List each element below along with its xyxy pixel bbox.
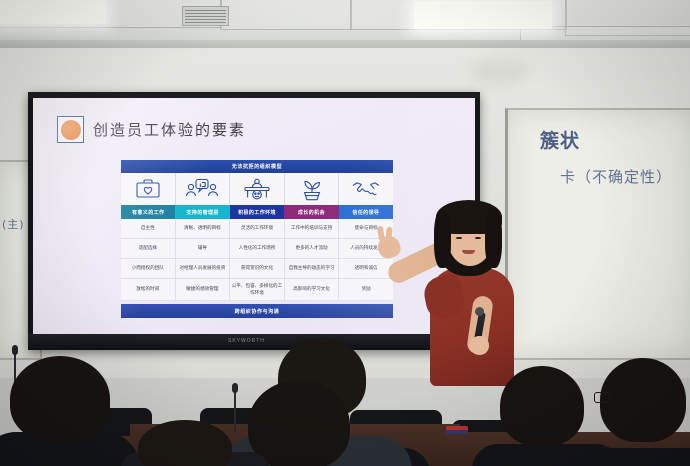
cell-2-4: 透明和诚信 — [339, 259, 393, 278]
presenter-mouth — [462, 250, 475, 254]
employee-experience-model-chart: 无法抗拒的组织模型 — [121, 160, 393, 318]
person-desk-icon — [230, 173, 285, 205]
chart-header-row: 有意义的工作 支持的管理层 积极的工作环境 成长的机会 信任的领导 — [121, 205, 393, 219]
column-header-0: 有意义的工作 — [121, 205, 175, 219]
cell-2-3: 自我主导的动态的学习 — [285, 259, 340, 278]
whiteboard-eraser — [446, 426, 468, 434]
orange-circle-logo-icon — [57, 116, 84, 143]
column-header-3: 成长的机会 — [284, 205, 338, 219]
cell-3-3: 高影响的学习文化 — [285, 279, 340, 300]
cell-2-0: 小而授权的团队 — [121, 259, 176, 278]
icon-row — [121, 173, 393, 205]
plant-growth-icon — [285, 173, 340, 205]
cell-2-2: 获得赏识的文化 — [230, 259, 285, 278]
cell-3-1: 敏捷的绩效管理 — [176, 279, 231, 300]
desk-microphone-icon — [234, 390, 236, 432]
people-feedback-icon — [176, 173, 231, 205]
handshake-icon — [339, 173, 393, 205]
audience-head — [10, 356, 110, 442]
column-header-4: 信任的领导 — [339, 205, 393, 219]
microphone-head — [475, 307, 484, 316]
slide-title: 创造员工体验的要素 — [93, 119, 246, 140]
cell-3-4: 奖励 — [339, 279, 393, 300]
cell-1-3: 更多的人才流动 — [285, 239, 340, 258]
cell-3-2: 公平、包容、多样化的工作环境 — [230, 279, 285, 300]
whiteboard-left-note: (主) — [2, 216, 25, 232]
cell-3-0: 放松的时间 — [121, 279, 176, 300]
cell-1-1: 辅导 — [176, 239, 231, 258]
audience-head — [248, 380, 350, 466]
model-banner-bottom: 跨组织协作与沟通 — [121, 304, 393, 318]
cell-0-3: 工作中的培训与支持 — [285, 219, 340, 238]
whiteboard-note-2: 卡（不确定性） — [560, 166, 672, 187]
slide-header: 创造员工体验的要素 — [57, 116, 246, 143]
table-row: 小而授权的团队 对经理人员发展的投资 获得赏识的文化 自我主导的动态的学习 透明… — [121, 259, 393, 279]
audience-head — [500, 366, 584, 446]
table-row: 适配选择 辅导 人性化的工作场所 更多的人才流动 人员的持续发展 — [121, 239, 393, 259]
presenter-hair-side — [434, 210, 451, 268]
ceiling-light-left — [0, 0, 106, 24]
column-header-2: 积极的工作环境 — [230, 205, 284, 219]
audience-glasses-icon — [594, 392, 612, 403]
model-banner-top: 无法抗拒的组织模型 — [121, 160, 393, 173]
presenter-mic-hand — [470, 336, 489, 355]
whiteboard-note-1: 簇状 — [540, 126, 580, 153]
classroom-photo: (主) 簇状 卡（不确定性） 创造员工体验的要素 无法抗拒的组织模型 — [0, 0, 690, 466]
presenter — [392, 196, 544, 386]
cell-1-0: 适配选择 — [121, 239, 176, 258]
audience-shoulders — [562, 448, 690, 466]
cell-0-1: 清晰、透明的目标 — [176, 219, 231, 238]
table-row: 自主性 清晰、透明的目标 灵活的工作环境 工作中的培训与支持 使命与目标 — [121, 219, 393, 239]
ceiling-light-right — [414, 1, 552, 29]
cell-2-1: 对经理人员发展的投资 — [176, 259, 231, 278]
air-vent-icon — [182, 6, 229, 26]
cell-1-2: 人性化的工作场所 — [230, 239, 285, 258]
table-row: 放松的时间 敏捷的绩效管理 公平、包容、多样化的工作环境 高影响的学习文化 奖励 — [121, 279, 393, 301]
display-brand-label: SKYWORTH — [228, 338, 265, 344]
presenter-hair-side — [485, 210, 502, 268]
audience-head — [600, 358, 686, 442]
briefcase-heart-icon — [121, 173, 176, 205]
column-header-1: 支持的管理层 — [175, 205, 229, 219]
cell-0-0: 自主性 — [121, 219, 176, 238]
cell-0-2: 灵活的工作环境 — [230, 219, 285, 238]
